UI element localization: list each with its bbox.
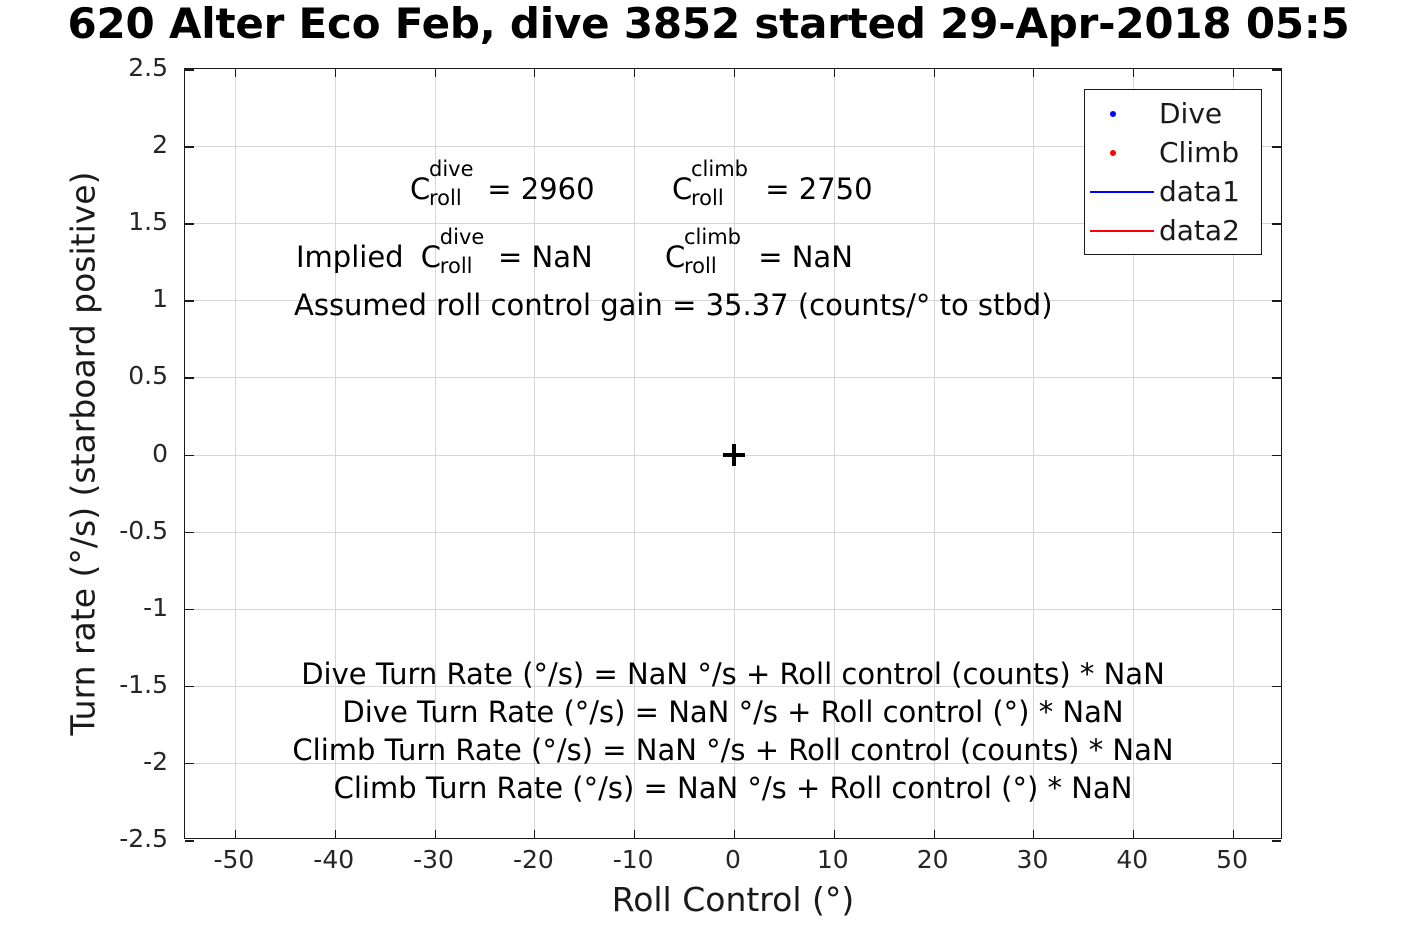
c-roll-climb-symbol: C climb roll [672, 172, 756, 206]
y-axis-tick-right [1272, 223, 1281, 225]
x-axis-tick-top [934, 69, 935, 77]
data-point-marker [723, 444, 745, 466]
implied-c-roll-climb-symbol: C climb roll [665, 240, 749, 274]
y-axis-tick [185, 146, 194, 148]
legend-item-data1[interactable]: data1 [1085, 172, 1261, 211]
x-axis-tick-top [335, 69, 336, 77]
y-axis-tick [185, 377, 194, 379]
gridline-horizontal [185, 377, 1281, 378]
x-tick-label: 50 [1172, 845, 1292, 874]
equation-line: Dive Turn Rate (°/s) = NaN °/s + Roll co… [184, 693, 1282, 731]
legend-label: data1 [1159, 172, 1240, 211]
y-tick-label: -2.5 [0, 824, 168, 854]
y-tick-label: 0.5 [0, 361, 168, 391]
x-axis-tick [534, 830, 535, 838]
implied-dive-value: = NaN [498, 240, 593, 274]
legend-line-icon [1090, 191, 1154, 193]
legend-label: data2 [1159, 211, 1240, 250]
x-axis-tick-top [435, 69, 436, 77]
x-axis-tick-top [1033, 69, 1034, 77]
legend-swatch-dot-icon [1085, 94, 1159, 133]
equation-line: Dive Turn Rate (°/s) = NaN °/s + Roll co… [184, 655, 1282, 693]
x-axis-tick-top [1133, 69, 1134, 77]
y-tick-label: 2.5 [0, 53, 168, 83]
legend-label: Climb [1159, 133, 1239, 172]
y-tick-label: -1 [0, 593, 168, 623]
annotation-gain-row: Assumed roll control gain = 35.37 (count… [294, 288, 1053, 322]
gridline-horizontal [185, 609, 1281, 610]
y-tick-label: 2 [0, 130, 168, 160]
x-axis-tick [1133, 830, 1134, 838]
c-roll-dive-symbol: C dive roll [410, 172, 478, 206]
y-tick-label: -2 [0, 747, 168, 777]
x-axis-tick-top [834, 69, 835, 77]
c-roll-climb-value: = 2750 [765, 172, 872, 206]
y-axis-tick [185, 300, 194, 302]
annotation-c-roll-row: C dive roll = 2960 [410, 172, 595, 206]
x-axis-tick-top [734, 69, 735, 77]
x-axis-label: Roll Control (°) [184, 880, 1282, 919]
y-axis-tick [185, 223, 194, 225]
annotation-c-roll-climb-row: C climb roll = 2750 [672, 172, 873, 206]
y-axis-tick-right [1272, 532, 1281, 534]
y-axis-tick-right [1272, 146, 1281, 148]
legend-line-icon [1090, 230, 1154, 232]
y-axis-tick-right [1272, 377, 1281, 379]
legend-dot-icon [1110, 150, 1116, 156]
annotation-implied-dive-row: Implied C dive roll = NaN [296, 240, 593, 274]
legend-item-data2[interactable]: data2 [1085, 211, 1261, 250]
y-tick-label: -0.5 [0, 516, 168, 546]
x-axis-tick-top [634, 69, 635, 77]
y-axis-tick-right [1272, 609, 1281, 611]
y-axis-tick-right [1272, 300, 1281, 302]
x-axis-tick [335, 830, 336, 838]
x-axis-tick-top [534, 69, 535, 77]
legend-swatch-dot-icon [1085, 133, 1159, 172]
gridline-horizontal [185, 532, 1281, 533]
y-axis-tick [185, 532, 194, 534]
equation-block: Dive Turn Rate (°/s) = NaN °/s + Roll co… [184, 655, 1282, 807]
legend-swatch-line-icon [1085, 211, 1159, 250]
legend-swatch-line-icon [1085, 172, 1159, 211]
y-axis-tick-right [1272, 455, 1281, 457]
implied-prefix-label: Implied [296, 240, 404, 274]
y-axis-tick [185, 69, 194, 71]
y-tick-label: -1.5 [0, 670, 168, 700]
x-axis-tick [1033, 830, 1034, 838]
y-tick-label: 1.5 [0, 207, 168, 237]
y-axis-tick [185, 840, 194, 842]
x-axis-tick-top [235, 69, 236, 77]
x-axis-tick [634, 830, 635, 838]
annotation-implied-climb-row: C climb roll = NaN [665, 240, 853, 274]
y-axis-tick-right [1272, 840, 1281, 842]
legend-dot-icon [1110, 111, 1116, 117]
y-axis-tick [185, 609, 194, 611]
x-axis-tick [734, 830, 735, 838]
y-axis-tick [185, 455, 194, 457]
legend: DiveClimbdata1data2 [1084, 89, 1262, 255]
legend-label: Dive [1159, 94, 1222, 133]
x-axis-tick [834, 830, 835, 838]
legend-item-dive[interactable]: Dive [1085, 94, 1261, 133]
x-axis-tick [435, 830, 436, 838]
c-roll-dive-value: = 2960 [487, 172, 594, 206]
implied-c-roll-dive-symbol: C dive roll [421, 240, 489, 274]
x-axis-tick [235, 830, 236, 838]
x-axis-tick [934, 830, 935, 838]
y-tick-label: 0 [0, 439, 168, 469]
equation-line: Climb Turn Rate (°/s) = NaN °/s + Roll c… [184, 731, 1282, 769]
chart-title: 620 Alter Eco Feb, dive 3852 started 29-… [0, 0, 1417, 50]
y-tick-label: 1 [0, 284, 168, 314]
legend-item-climb[interactable]: Climb [1085, 133, 1261, 172]
equation-line: Climb Turn Rate (°/s) = NaN °/s + Roll c… [184, 769, 1282, 807]
y-axis-tick-right [1272, 69, 1281, 71]
implied-climb-value: = NaN [758, 240, 853, 274]
x-axis-tick [1233, 830, 1234, 838]
x-axis-tick-top [1233, 69, 1234, 77]
